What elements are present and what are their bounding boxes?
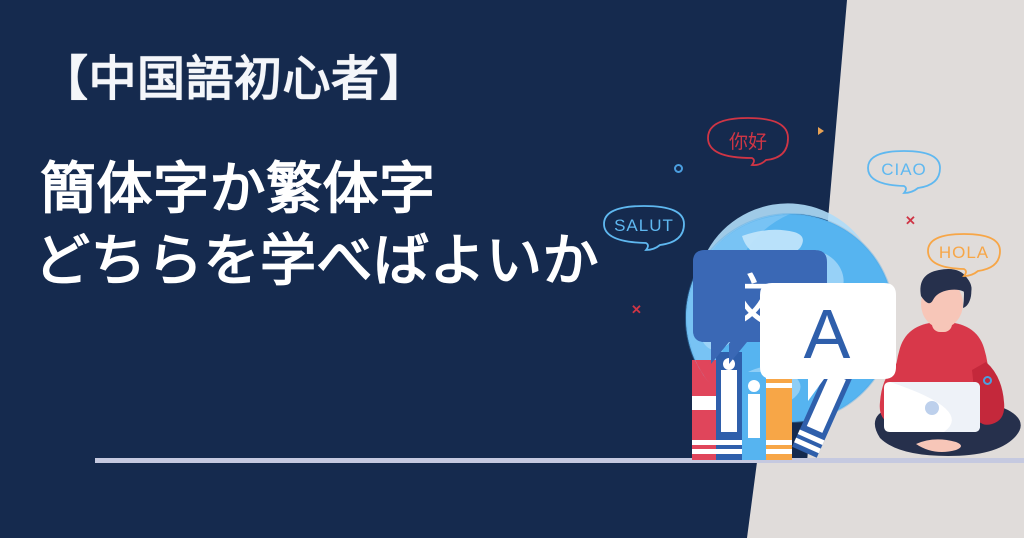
speech-bubble-hola: HOLA: [922, 228, 1006, 278]
cross-mark-icon: ✕: [631, 303, 642, 316]
ring-dot-2-icon: [983, 376, 992, 385]
banner-headline-line-2: どちらを学べばよいか: [34, 225, 740, 297]
book-red: [692, 360, 716, 460]
speech-bubble-ciao-label: CIAO: [881, 160, 927, 180]
banner-headline-line-1: 簡体字か繁体字: [40, 157, 436, 220]
triangle-mark-icon: [818, 127, 824, 135]
speech-bubble-hola-label: HOLA: [939, 243, 989, 263]
translate-target-glyph: A: [804, 295, 851, 373]
headline-block: 【中国語初心者】 簡体字か繁体字 どちらを学べばよいか: [40, 52, 740, 297]
banner-kicker: 【中国語初心者】: [40, 52, 740, 107]
speech-bubble-ciao: CIAO: [862, 145, 946, 195]
person-with-laptop: [875, 269, 1021, 456]
banner-canvas: 文 A 你好 SALUT CIAO HOLA ✕ ✕ 【中国語初心者】: [0, 0, 1024, 538]
ground-line: [95, 458, 1024, 463]
cross-mark-2-icon: ✕: [905, 214, 916, 227]
banner-headline: 簡体字か繁体字 どちらを学べばよいか: [40, 153, 740, 296]
book-light-blue: [742, 372, 766, 460]
book-navy: [716, 352, 742, 460]
